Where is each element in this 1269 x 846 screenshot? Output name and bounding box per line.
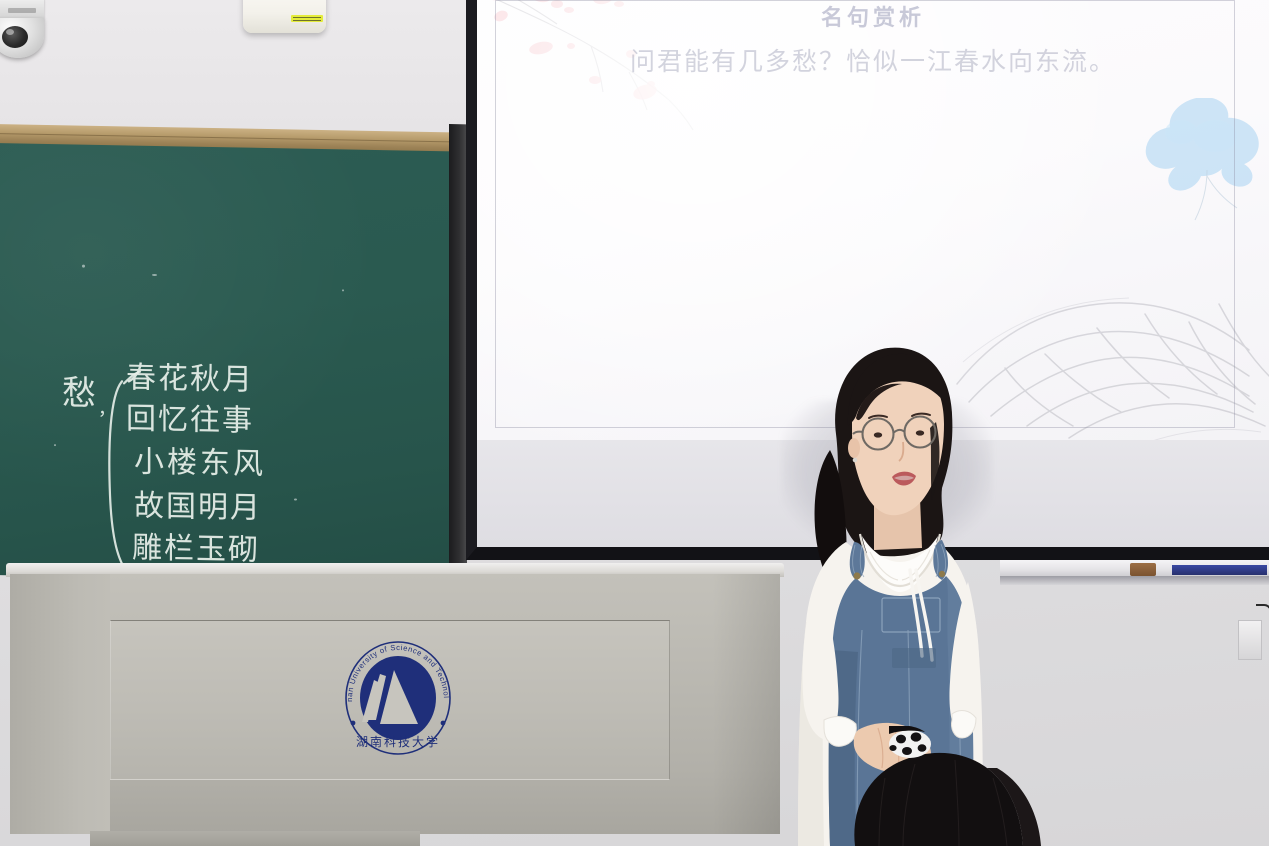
polka-dot-hair-clip — [889, 730, 931, 758]
slide-title: 名句赏析 — [477, 0, 1269, 32]
chalk-ledge-shadow — [1000, 576, 1269, 585]
logo-chinese-text: 湖南科技大学 — [356, 734, 440, 749]
wireless-access-point-icon — [243, 0, 326, 33]
camera-lens — [2, 26, 28, 48]
chalk-keyword: 愁 — [62, 373, 96, 414]
university-logo: Hunan University of Science and Technolo… — [332, 624, 464, 766]
chalk-line: 回忆往事 — [126, 401, 254, 438]
seated-student-silhouette — [845, 726, 1060, 846]
classroom-photo-scene: 愁 ， 春花秋月 回忆往事 小楼东风 故国明月 雕栏玉砌 朱颜改 — [0, 0, 1269, 846]
chalk-handwriting: 愁 ， 春花秋月 回忆往事 小楼东风 故国明月 雕栏玉砌 朱颜改 — [0, 143, 466, 584]
board-eraser — [1130, 563, 1156, 576]
chalk-line: 春花秋月 — [126, 360, 254, 397]
chalk-comma: ， — [98, 399, 116, 420]
blue-book — [1172, 565, 1267, 575]
blackboard-surface: 愁 ， 春花秋月 回忆往事 小楼东风 故国明月 雕栏玉砌 朱颜改 — [0, 143, 466, 584]
dome-security-camera-icon — [0, 0, 50, 60]
upper-wall-section — [0, 0, 480, 133]
chalk-line: 小楼东风 — [134, 445, 266, 482]
podium-left-face — [10, 574, 110, 834]
ap-yellow-label — [291, 15, 323, 22]
camera-mount-label — [8, 8, 36, 13]
blackboard: 愁 ， 春花秋月 回忆往事 小楼东风 故国明月 雕栏玉砌 朱颜改 — [0, 124, 466, 576]
blackboard-right-edge — [449, 124, 467, 576]
chalk-line: 故国明月 — [134, 489, 262, 526]
podium-base — [90, 831, 420, 846]
slide-body-text: 问君能有几多愁？恰似一江春水向东流。 — [477, 42, 1269, 78]
wall-box-cord — [1256, 604, 1269, 622]
chalk-ledge-items — [1100, 561, 1269, 577]
wall-mounted-box — [1238, 620, 1262, 660]
